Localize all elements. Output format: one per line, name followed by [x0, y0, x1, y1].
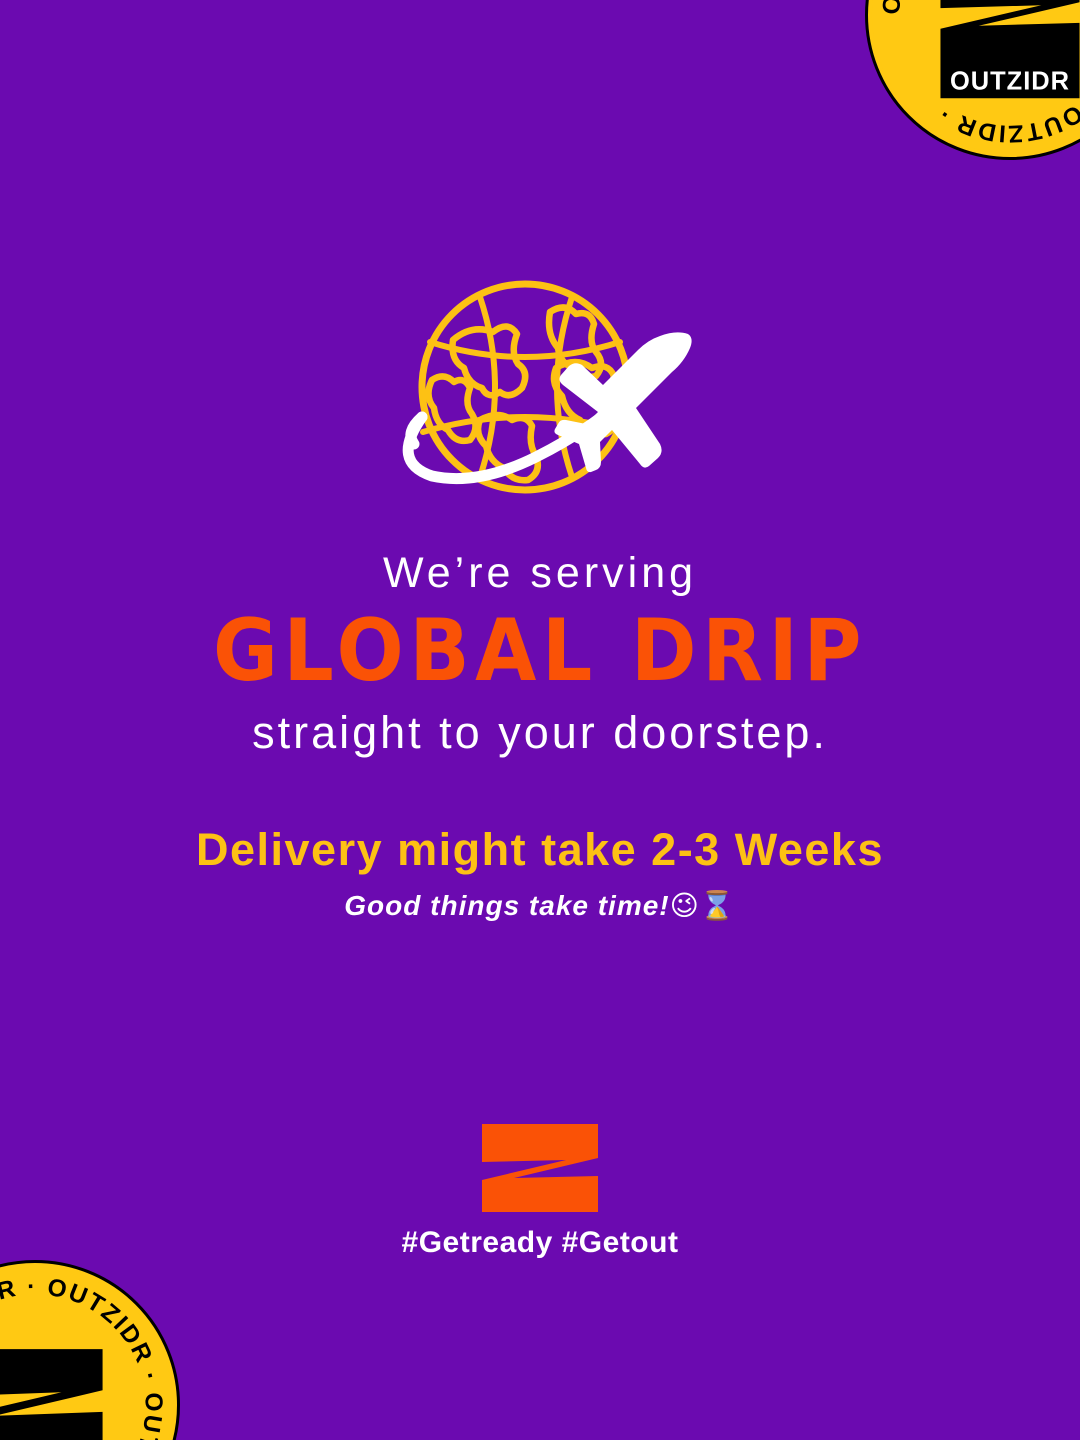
delivery-notice-block: Delivery might take 2-3 Weeks Good thing…	[0, 822, 1080, 925]
outzidr-circular-badge-icon: OUTZIDR · OUTZIDR · OUTZIDR · OUTZIDR · …	[868, 0, 1080, 157]
brand-z-logo-icon	[478, 1122, 602, 1214]
winking-face-emoji: 😉	[670, 889, 700, 922]
outzidr-sticker-bottom-left: OUTZIDR · OUTZIDR · OUTZIDR · OUTZIDR · …	[0, 1260, 180, 1440]
tagline-line-1: We’re serving	[0, 548, 1080, 599]
tagline-line-3: straight to your doorstep.	[0, 706, 1080, 760]
sticker-inner-label: OUTZIDR	[950, 67, 1070, 95]
hashtags-text: #Getready #Getout	[0, 1226, 1080, 1260]
tagline-headline: GLOBAL DRIP	[43, 605, 1037, 698]
headline-copy-block: We’re serving GLOBAL DRIP straight to yo…	[0, 548, 1080, 760]
outzidr-sticker-top-right: OUTZIDR · OUTZIDR · OUTZIDR · OUTZIDR · …	[865, 0, 1080, 160]
hero-icon-wrapper	[360, 272, 720, 512]
outzidr-circular-badge-icon: OUTZIDR · OUTZIDR · OUTZIDR · OUTZIDR · …	[0, 1263, 177, 1440]
promo-poster: We’re serving GLOBAL DRIP straight to yo…	[0, 0, 1080, 1440]
delivery-subtext-label: Good things take time!	[344, 890, 669, 921]
globe-with-airplane-icon	[360, 272, 720, 512]
footer-brand-block: #Getready #Getout	[0, 1122, 1080, 1260]
delivery-subtext: Good things take time!😉⌛	[0, 888, 1080, 924]
hourglass-emoji: ⌛	[700, 889, 736, 922]
delivery-headline: Delivery might take 2-3 Weeks	[0, 822, 1080, 878]
